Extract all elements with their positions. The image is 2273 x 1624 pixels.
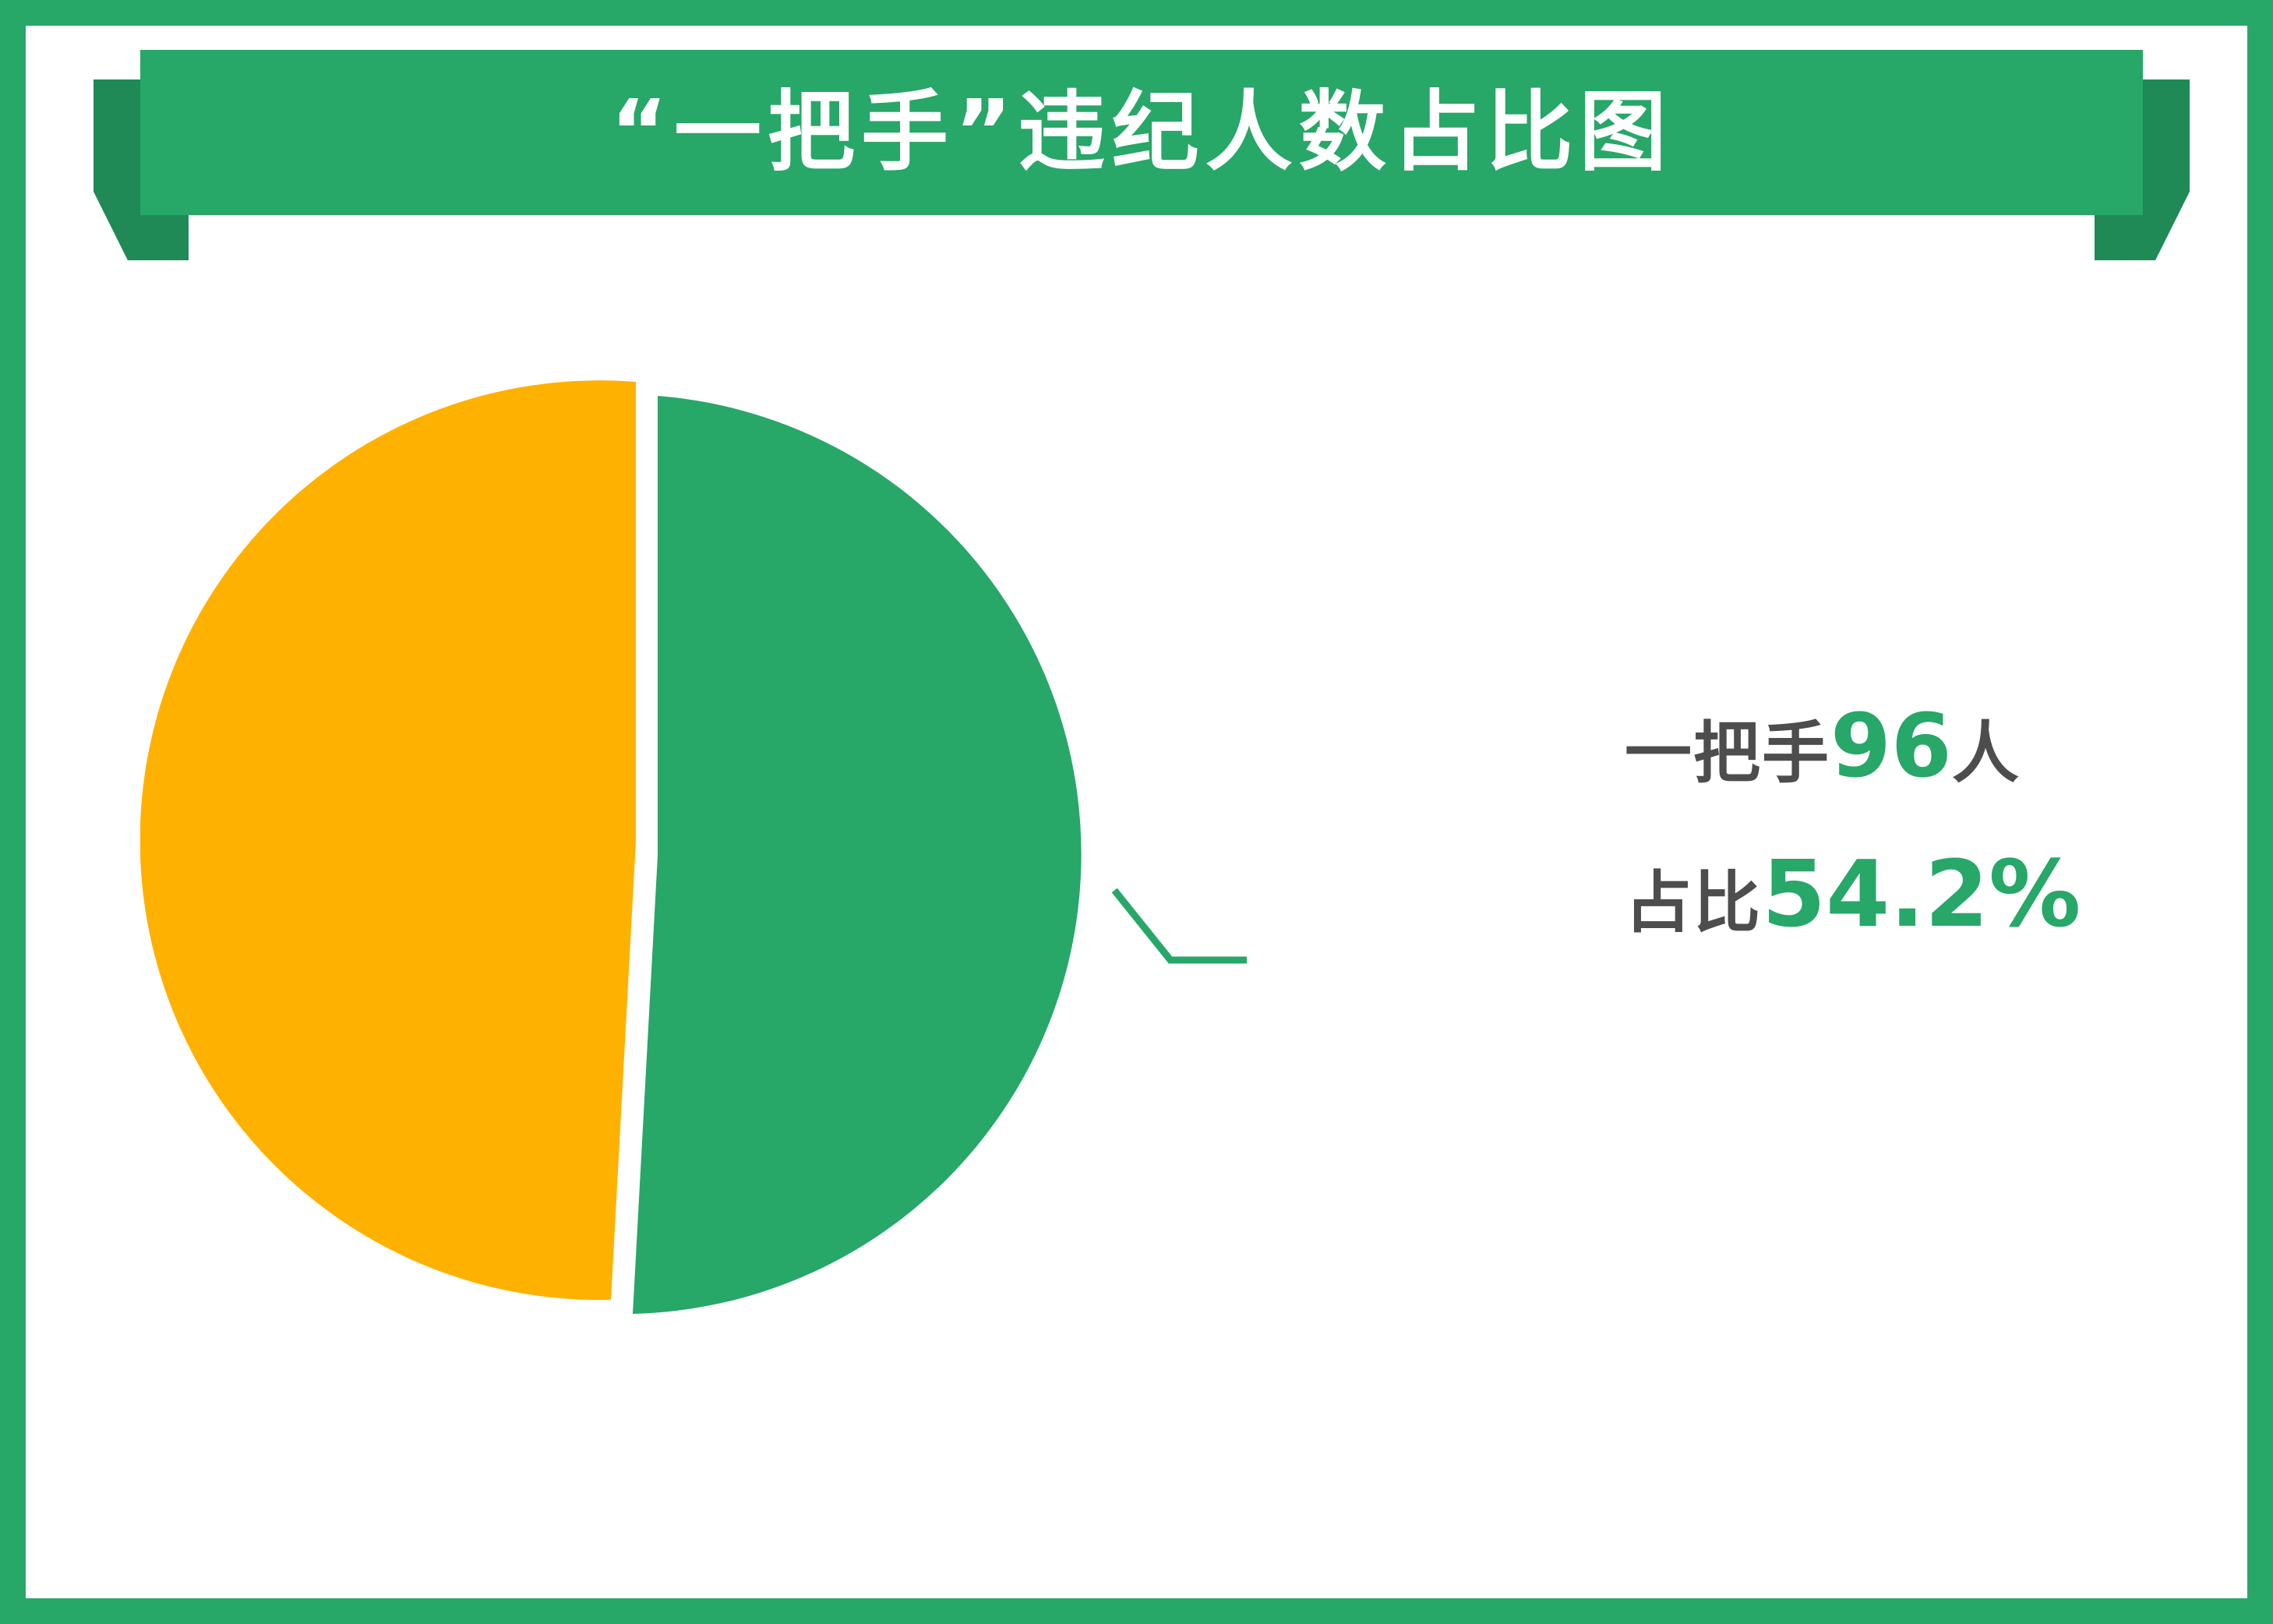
frame-bottom-border bbox=[0, 1598, 2273, 1624]
page-title: “一把手”违纪人数占比图 bbox=[610, 89, 1672, 176]
callout-line-count: 一把手96人 bbox=[1625, 701, 2217, 793]
callout-percent-value: 54.2% bbox=[1762, 840, 2081, 948]
callout-count-label: 一把手 bbox=[1625, 715, 1830, 793]
frame-top-border bbox=[0, 0, 2273, 26]
title-ribbon: “一把手”违纪人数占比图 bbox=[94, 50, 2190, 215]
callout-leader-line bbox=[1117, 893, 1247, 960]
pie-chart bbox=[140, 288, 1247, 1457]
callout-block: 一把手96人 占比54.2% bbox=[1625, 701, 2217, 942]
pie-slice-other bbox=[140, 380, 636, 1300]
callout-count-value: 96 bbox=[1830, 696, 1952, 797]
ribbon-band: “一把手”违纪人数占比图 bbox=[140, 50, 2143, 215]
callout-line-percent: 占比54.2% bbox=[1625, 846, 2217, 943]
callout-count-unit: 人 bbox=[1952, 715, 2019, 793]
pie-slice-yibashou bbox=[633, 396, 1082, 1314]
callout-percent-label: 占比 bbox=[1625, 864, 1762, 942]
poster-root: “一把手”违纪人数占比图 一把手96人 占比54.2% bbox=[0, 0, 2273, 1624]
